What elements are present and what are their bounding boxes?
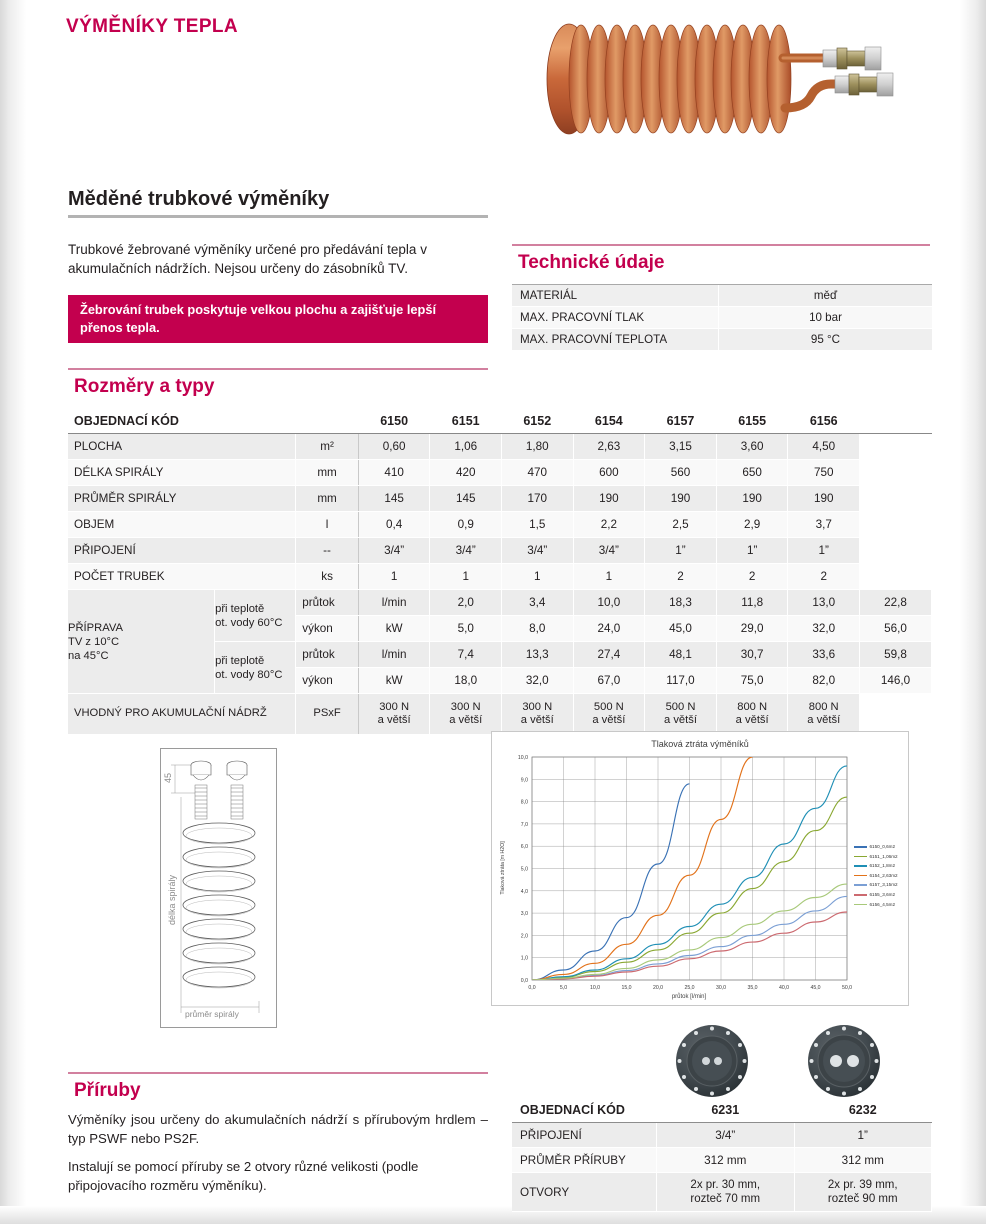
flange-photo-6231: [673, 1022, 751, 1100]
row-unit: --: [296, 538, 359, 564]
cell-value: 3/4”: [657, 1123, 794, 1148]
legend-item: 6154_2,63m2: [854, 871, 898, 881]
chart-xtick: 0,0: [528, 985, 535, 991]
cell-value: 500 N a větší: [573, 694, 645, 735]
chart-xtick: 20,0: [653, 985, 663, 991]
flanges-table: OBJEDNACÍ KÓD 6231 6232 PŘIPOJENÍ 3/4” 1…: [512, 1098, 932, 1212]
cell-value: 13,3: [501, 642, 573, 668]
cell-value: 190: [788, 486, 860, 512]
condition-line1: při teplotě: [215, 654, 295, 668]
cell-value: 8,0: [501, 616, 573, 642]
chart-ytick: 0,0: [521, 978, 528, 984]
flange-photo-6232: [805, 1022, 883, 1100]
tank-value-line1: 800 N: [717, 701, 788, 715]
row-label: PŘIPOJENÍ: [512, 1123, 657, 1148]
legend-swatch: [854, 856, 867, 858]
order-code-6155: 6155: [716, 408, 788, 433]
table-row: MAX. PRACOVNÍ TEPLOTA 95 °C: [512, 329, 932, 351]
cell-value: 2: [645, 564, 717, 590]
chart-ytick: 8,0: [521, 800, 528, 806]
row-label: DÉLKA SPIRÁLY: [68, 460, 296, 486]
order-code-6156: 6156: [788, 408, 860, 433]
chart-ytick: 9,0: [521, 777, 528, 783]
row-label: OBJEM: [68, 512, 296, 538]
chart-ytick: 7,0: [521, 822, 528, 828]
tech-key: MAX. PRACOVNÍ TEPLOTA: [512, 329, 719, 351]
order-code-unit-spacer: [296, 408, 359, 433]
cell-value: 145: [430, 486, 502, 512]
prep-label-line2: TV z 10°C: [68, 635, 214, 649]
prep-label-line1: PŘÍPRAVA: [68, 621, 214, 635]
chart-xtick: 50,0: [842, 985, 852, 991]
tank-value-line1: 500 N: [645, 701, 716, 715]
tank-value-line1: 500 N: [574, 701, 645, 715]
row-label: OTVORY: [512, 1173, 657, 1212]
dimensions-header-row: OBJEDNACÍ KÓD 6150 6151 6152 6154 6157 6…: [68, 408, 932, 433]
order-code-6151: 6151: [430, 408, 502, 433]
cell-value: 4,50: [788, 434, 860, 460]
prep-label-line3: na 45°C: [68, 649, 214, 663]
cell-value: 10,0: [573, 590, 645, 616]
chart-xtick: 15,0: [621, 985, 631, 991]
flanges-section-title: Příruby: [74, 1080, 141, 1102]
cell-value: 75,0: [716, 668, 788, 694]
cell-value: 59,8: [860, 642, 932, 668]
chart-xtick: 35,0: [747, 985, 757, 991]
dimensions-section-rule: [68, 368, 488, 370]
tech-key: MATERIÁL: [512, 285, 719, 307]
chart-ytick: 10,0: [518, 755, 528, 761]
tank-value-line2: a větší: [645, 714, 716, 728]
legend-item: 6152_1,8m2: [854, 861, 898, 871]
chart-xtick: 45,0: [810, 985, 820, 991]
flange-code-label: OBJEDNACÍ KÓD: [512, 1098, 657, 1123]
legend-label: 6157_3,15m2: [870, 880, 898, 890]
cell-value: 750: [788, 460, 860, 486]
quantity-label: průtok: [296, 642, 359, 668]
chart-ytick: 6,0: [521, 844, 528, 850]
cell-value: 420: [430, 460, 502, 486]
product-section-rule: [68, 215, 488, 218]
cell-value: 2: [788, 564, 860, 590]
cell-value: 3/4”: [430, 538, 502, 564]
quantity-label: výkon: [296, 668, 359, 694]
table-row: PRŮMĚR PŘÍRUBY 312 mm 312 mm: [512, 1148, 932, 1173]
cell-value: 18,3: [645, 590, 717, 616]
chart-xtick: 30,0: [716, 985, 726, 991]
cell-value: 3/4”: [501, 538, 573, 564]
cell-value: 410: [358, 460, 430, 486]
table-row: OBJEM l 0,4 0,9 1,5 2,2 2,5 2,9 3,7: [68, 512, 932, 538]
legend-swatch: [854, 894, 867, 896]
row-label: VHODNÝ PRO AKUMULAČNÍ NÁDRŽ: [68, 694, 296, 735]
legend-label: 6155_3,6m2: [870, 890, 896, 900]
table-row: PŘÍPRAVA TV z 10°C na 45°C při teplotě o…: [68, 590, 932, 616]
cell-value: 18,0: [430, 668, 502, 694]
legend-item: 6157_3,15m2: [854, 880, 898, 890]
cell-value: 24,0: [573, 616, 645, 642]
row-unit: ks: [296, 564, 359, 590]
flanges-paragraph-2: Instalují se pomocí příruby se 2 otvory …: [68, 1157, 488, 1195]
tank-value-line1: 800 N: [788, 701, 859, 715]
cell-value: 45,0: [645, 616, 717, 642]
cell-value: 170: [501, 486, 573, 512]
table-row: MATERIÁL měď: [512, 285, 932, 307]
legend-swatch: [854, 884, 867, 886]
cell-value: 1”: [645, 538, 717, 564]
row-unit: kW: [358, 668, 430, 694]
tank-value-line1: 300 N: [502, 701, 573, 715]
cell-value: 190: [716, 486, 788, 512]
chart-xtick: 25,0: [684, 985, 694, 991]
table-row: PŘIPOJENÍ -- 3/4” 3/4” 3/4” 3/4” 1” 1” 1…: [68, 538, 932, 564]
page-title: VÝMĚNÍKY TEPLA: [66, 16, 238, 38]
legend-item: 6156_4,5m2: [854, 900, 898, 910]
cell-value: 5,0: [430, 616, 502, 642]
row-label: PLOCHA: [68, 434, 296, 460]
cell-value: 800 N a větší: [716, 694, 788, 735]
technical-data-table: MATERIÁL měď MAX. PRACOVNÍ TLAK 10 bar M…: [512, 285, 932, 351]
cell-value: 48,1: [645, 642, 717, 668]
otvory-line2: rozteč 70 mm: [665, 1192, 785, 1206]
cell-value: 3,7: [788, 512, 860, 538]
order-code-6157: 6157: [645, 408, 717, 433]
cell-value: 32,0: [788, 616, 860, 642]
product-section-title: Měděné trubkové výměníky: [68, 188, 329, 211]
tank-value-line2: a větší: [359, 714, 430, 728]
legend-label: 6156_4,5m2: [870, 900, 896, 910]
cell-value: 3,4: [501, 590, 573, 616]
order-code-6152: 6152: [501, 408, 573, 433]
cell-value: 7,4: [430, 642, 502, 668]
cell-value: 0,9: [430, 512, 502, 538]
tech-value: 95 °C: [719, 329, 933, 351]
row-label: PŘIPOJENÍ: [68, 538, 296, 564]
chart-legend: 6150_0,6m26151_1,06m26152_1,8m26154_2,63…: [854, 842, 898, 909]
drawing-dim-bottom: průměr spirály: [185, 1009, 240, 1019]
table-row: PŘIPOJENÍ 3/4” 1”: [512, 1123, 932, 1148]
cell-value: 13,0: [788, 590, 860, 616]
chart-xtick: 5,0: [560, 985, 567, 991]
flanges-paragraph-1: Výměníky jsou určeny do akumulačních nád…: [68, 1110, 488, 1148]
cell-value: 1”: [716, 538, 788, 564]
row-unit: mm: [296, 460, 359, 486]
legend-label: 6152_1,8m2: [870, 861, 896, 871]
cell-value: 470: [501, 460, 573, 486]
row-unit: mm: [296, 486, 359, 512]
chart-ytick: 5,0: [521, 867, 528, 873]
table-row: PRŮMĚR SPIRÁLY mm 145 145 170 190 190 19…: [68, 486, 932, 512]
dimensions-table: OBJEDNACÍ KÓD 6150 6151 6152 6154 6157 6…: [68, 408, 932, 735]
tank-value-line1: 300 N: [430, 701, 501, 715]
tech-value: 10 bar: [719, 307, 933, 329]
copper-coil-photo: [527, 12, 927, 147]
cell-value: 2,9: [716, 512, 788, 538]
cell-value: 300 N a větší: [358, 694, 430, 735]
flanges-section-rule: [68, 1072, 488, 1074]
otvory-line1: 2x pr. 39 mm,: [803, 1178, 924, 1192]
cell-value: 1,5: [501, 512, 573, 538]
cell-value: 2: [716, 564, 788, 590]
otvory-line2: rozteč 90 mm: [803, 1192, 924, 1206]
cell-value: 2,5: [645, 512, 717, 538]
condition-line2: ot. vody 80°C: [215, 668, 295, 682]
cell-value: 300 N a větší: [430, 694, 502, 735]
cell-value: 2,0: [430, 590, 502, 616]
flanges-header-row: OBJEDNACÍ KÓD 6231 6232: [512, 1098, 932, 1123]
cell-value: 300 N a větší: [501, 694, 573, 735]
legend-swatch: [854, 846, 867, 848]
otvory-line1: 2x pr. 30 mm,: [665, 1178, 785, 1192]
row-label: PRŮMĚR PŘÍRUBY: [512, 1148, 657, 1173]
page-edge-shading-left: [0, 0, 26, 1224]
condition-line1: při teplotě: [215, 602, 295, 616]
drawing-dim-top: 45: [163, 773, 173, 783]
cell-value: 1: [358, 564, 430, 590]
cell-value: 650: [716, 460, 788, 486]
tank-value-line2: a větší: [788, 714, 859, 728]
cell-value: 1”: [788, 538, 860, 564]
tank-value-line1: 300 N: [359, 701, 430, 715]
cell-value: 32,0: [501, 668, 573, 694]
cell-value: 3/4”: [573, 538, 645, 564]
legend-item: 6151_1,06m2: [854, 852, 898, 862]
tech-value: měď: [719, 285, 933, 307]
order-code-label: OBJEDNACÍ KÓD: [68, 408, 296, 433]
row-unit: l/min: [358, 590, 430, 616]
cell-value: 2,63: [573, 434, 645, 460]
cell-value: 800 N a větší: [788, 694, 860, 735]
quantity-label: výkon: [296, 616, 359, 642]
cell-value: 27,4: [573, 642, 645, 668]
quantity-label: průtok: [296, 590, 359, 616]
drawing-dim-left: délka spirály: [167, 874, 177, 925]
technical-data-rule: [512, 244, 930, 246]
table-row: MAX. PRACOVNÍ TLAK 10 bar: [512, 307, 932, 329]
cell-value: 29,0: [716, 616, 788, 642]
cell-value: 1,06: [430, 434, 502, 460]
row-unit: m²: [296, 434, 359, 460]
cell-value: 0,4: [358, 512, 430, 538]
cell-value: 190: [573, 486, 645, 512]
cell-value: 190: [645, 486, 717, 512]
tank-value-line2: a větší: [574, 714, 645, 728]
table-row: VHODNÝ PRO AKUMULAČNÍ NÁDRŽ PSxF 300 N a…: [68, 694, 932, 735]
chart-ytick: 3,0: [521, 911, 528, 917]
coil-technical-drawing: 45 délka spirály průměr spirály: [160, 748, 277, 1028]
cell-value: 67,0: [573, 668, 645, 694]
legend-item: 6150_0,6m2: [854, 842, 898, 852]
cell-value: 2x pr. 30 mm, rozteč 70 mm: [657, 1173, 794, 1212]
cell-value: 500 N a větší: [645, 694, 717, 735]
cell-value: 2x pr. 39 mm, rozteč 90 mm: [794, 1173, 932, 1212]
cell-value: 560: [645, 460, 717, 486]
table-row: PLOCHA m² 0,60 1,06 1,80 2,63 3,15 3,60 …: [68, 434, 932, 460]
cell-value: 146,0: [860, 668, 932, 694]
cell-value: 3,60: [716, 434, 788, 460]
tank-value-line2: a větší: [717, 714, 788, 728]
prep-label-cell: PŘÍPRAVA TV z 10°C na 45°C: [68, 590, 215, 694]
table-row: POČET TRUBEK ks 1 1 1 1 2 2 2: [68, 564, 932, 590]
dimensions-section-title: Rozměry a typy: [74, 376, 214, 398]
cell-value: 11,8: [716, 590, 788, 616]
product-callout: Žebrování trubek poskytuje velkou plochu…: [68, 295, 488, 343]
row-unit: PSxF: [296, 694, 359, 735]
cell-value: 3,15: [645, 434, 717, 460]
row-label: PRŮMĚR SPIRÁLY: [68, 486, 296, 512]
order-code-6150: 6150: [358, 408, 430, 433]
cell-value: 82,0: [788, 668, 860, 694]
row-unit: kW: [358, 616, 430, 642]
prep-condition-60c: při teplotě ot. vody 60°C: [215, 590, 296, 642]
cell-value: 1”: [794, 1123, 932, 1148]
legend-swatch: [854, 875, 867, 877]
legend-label: 6150_0,6m2: [870, 842, 896, 852]
chart-ytick: 2,0: [521, 933, 528, 939]
tank-value-line2: a větší: [430, 714, 501, 728]
chart-xlabel: průtok [l/min]: [672, 993, 707, 1000]
cell-value: 600: [573, 460, 645, 486]
legend-swatch: [854, 865, 867, 867]
cell-value: 117,0: [645, 668, 717, 694]
condition-line2: ot. vody 60°C: [215, 616, 295, 630]
cell-value: 22,8: [860, 590, 932, 616]
cell-value: 145: [358, 486, 430, 512]
table-row: OTVORY 2x pr. 30 mm, rozteč 70 mm 2x pr.…: [512, 1173, 932, 1212]
cell-value: 1: [501, 564, 573, 590]
cell-value: 1,80: [501, 434, 573, 460]
flange-code-6231: 6231: [657, 1098, 794, 1123]
chart-ylabel: Tlaková ztráta [m H2O]: [500, 841, 506, 895]
flange-code-6232: 6232: [794, 1098, 932, 1123]
cell-value: 30,7: [716, 642, 788, 668]
technical-data-title: Technické údaje: [518, 252, 664, 274]
pressure-loss-chart: Tlaková ztráta výměníků 0,05,010,015,020…: [491, 731, 909, 1006]
cell-value: 312 mm: [794, 1148, 932, 1173]
prep-condition-80c: při teplotě ot. vody 80°C: [215, 642, 296, 694]
cell-value: 0,60: [358, 434, 430, 460]
order-code-6154: 6154: [573, 408, 645, 433]
legend-label: 6154_2,63m2: [870, 871, 898, 881]
legend-item: 6155_3,6m2: [854, 890, 898, 900]
legend-label: 6151_1,06m2: [870, 852, 898, 862]
legend-swatch: [854, 904, 867, 906]
table-row: DÉLKA SPIRÁLY mm 410 420 470 600 560 650…: [68, 460, 932, 486]
row-unit: l: [296, 512, 359, 538]
cell-value: 3/4”: [358, 538, 430, 564]
row-label: POČET TRUBEK: [68, 564, 296, 590]
cell-value: 1: [573, 564, 645, 590]
cell-value: 2,2: [573, 512, 645, 538]
cell-value: 56,0: [860, 616, 932, 642]
cell-value: 1: [430, 564, 502, 590]
row-unit: l/min: [358, 642, 430, 668]
chart-xtick: 10,0: [590, 985, 600, 991]
chart-xtick: 40,0: [779, 985, 789, 991]
page-edge-shading-right: [960, 0, 986, 1224]
product-intro-text: Trubkové žebrované výměníky určené pro p…: [68, 240, 488, 278]
chart-ytick: 1,0: [521, 956, 528, 962]
cell-value: 33,6: [788, 642, 860, 668]
chart-ytick: 4,0: [521, 889, 528, 895]
tech-key: MAX. PRACOVNÍ TLAK: [512, 307, 719, 329]
datasheet-page: VÝMĚNÍKY TEPLA: [0, 0, 986, 1224]
tank-value-line2: a větší: [502, 714, 573, 728]
chart-plot: 0,05,010,015,020,025,030,035,040,045,050…: [492, 732, 906, 1003]
cell-value: 312 mm: [657, 1148, 794, 1173]
